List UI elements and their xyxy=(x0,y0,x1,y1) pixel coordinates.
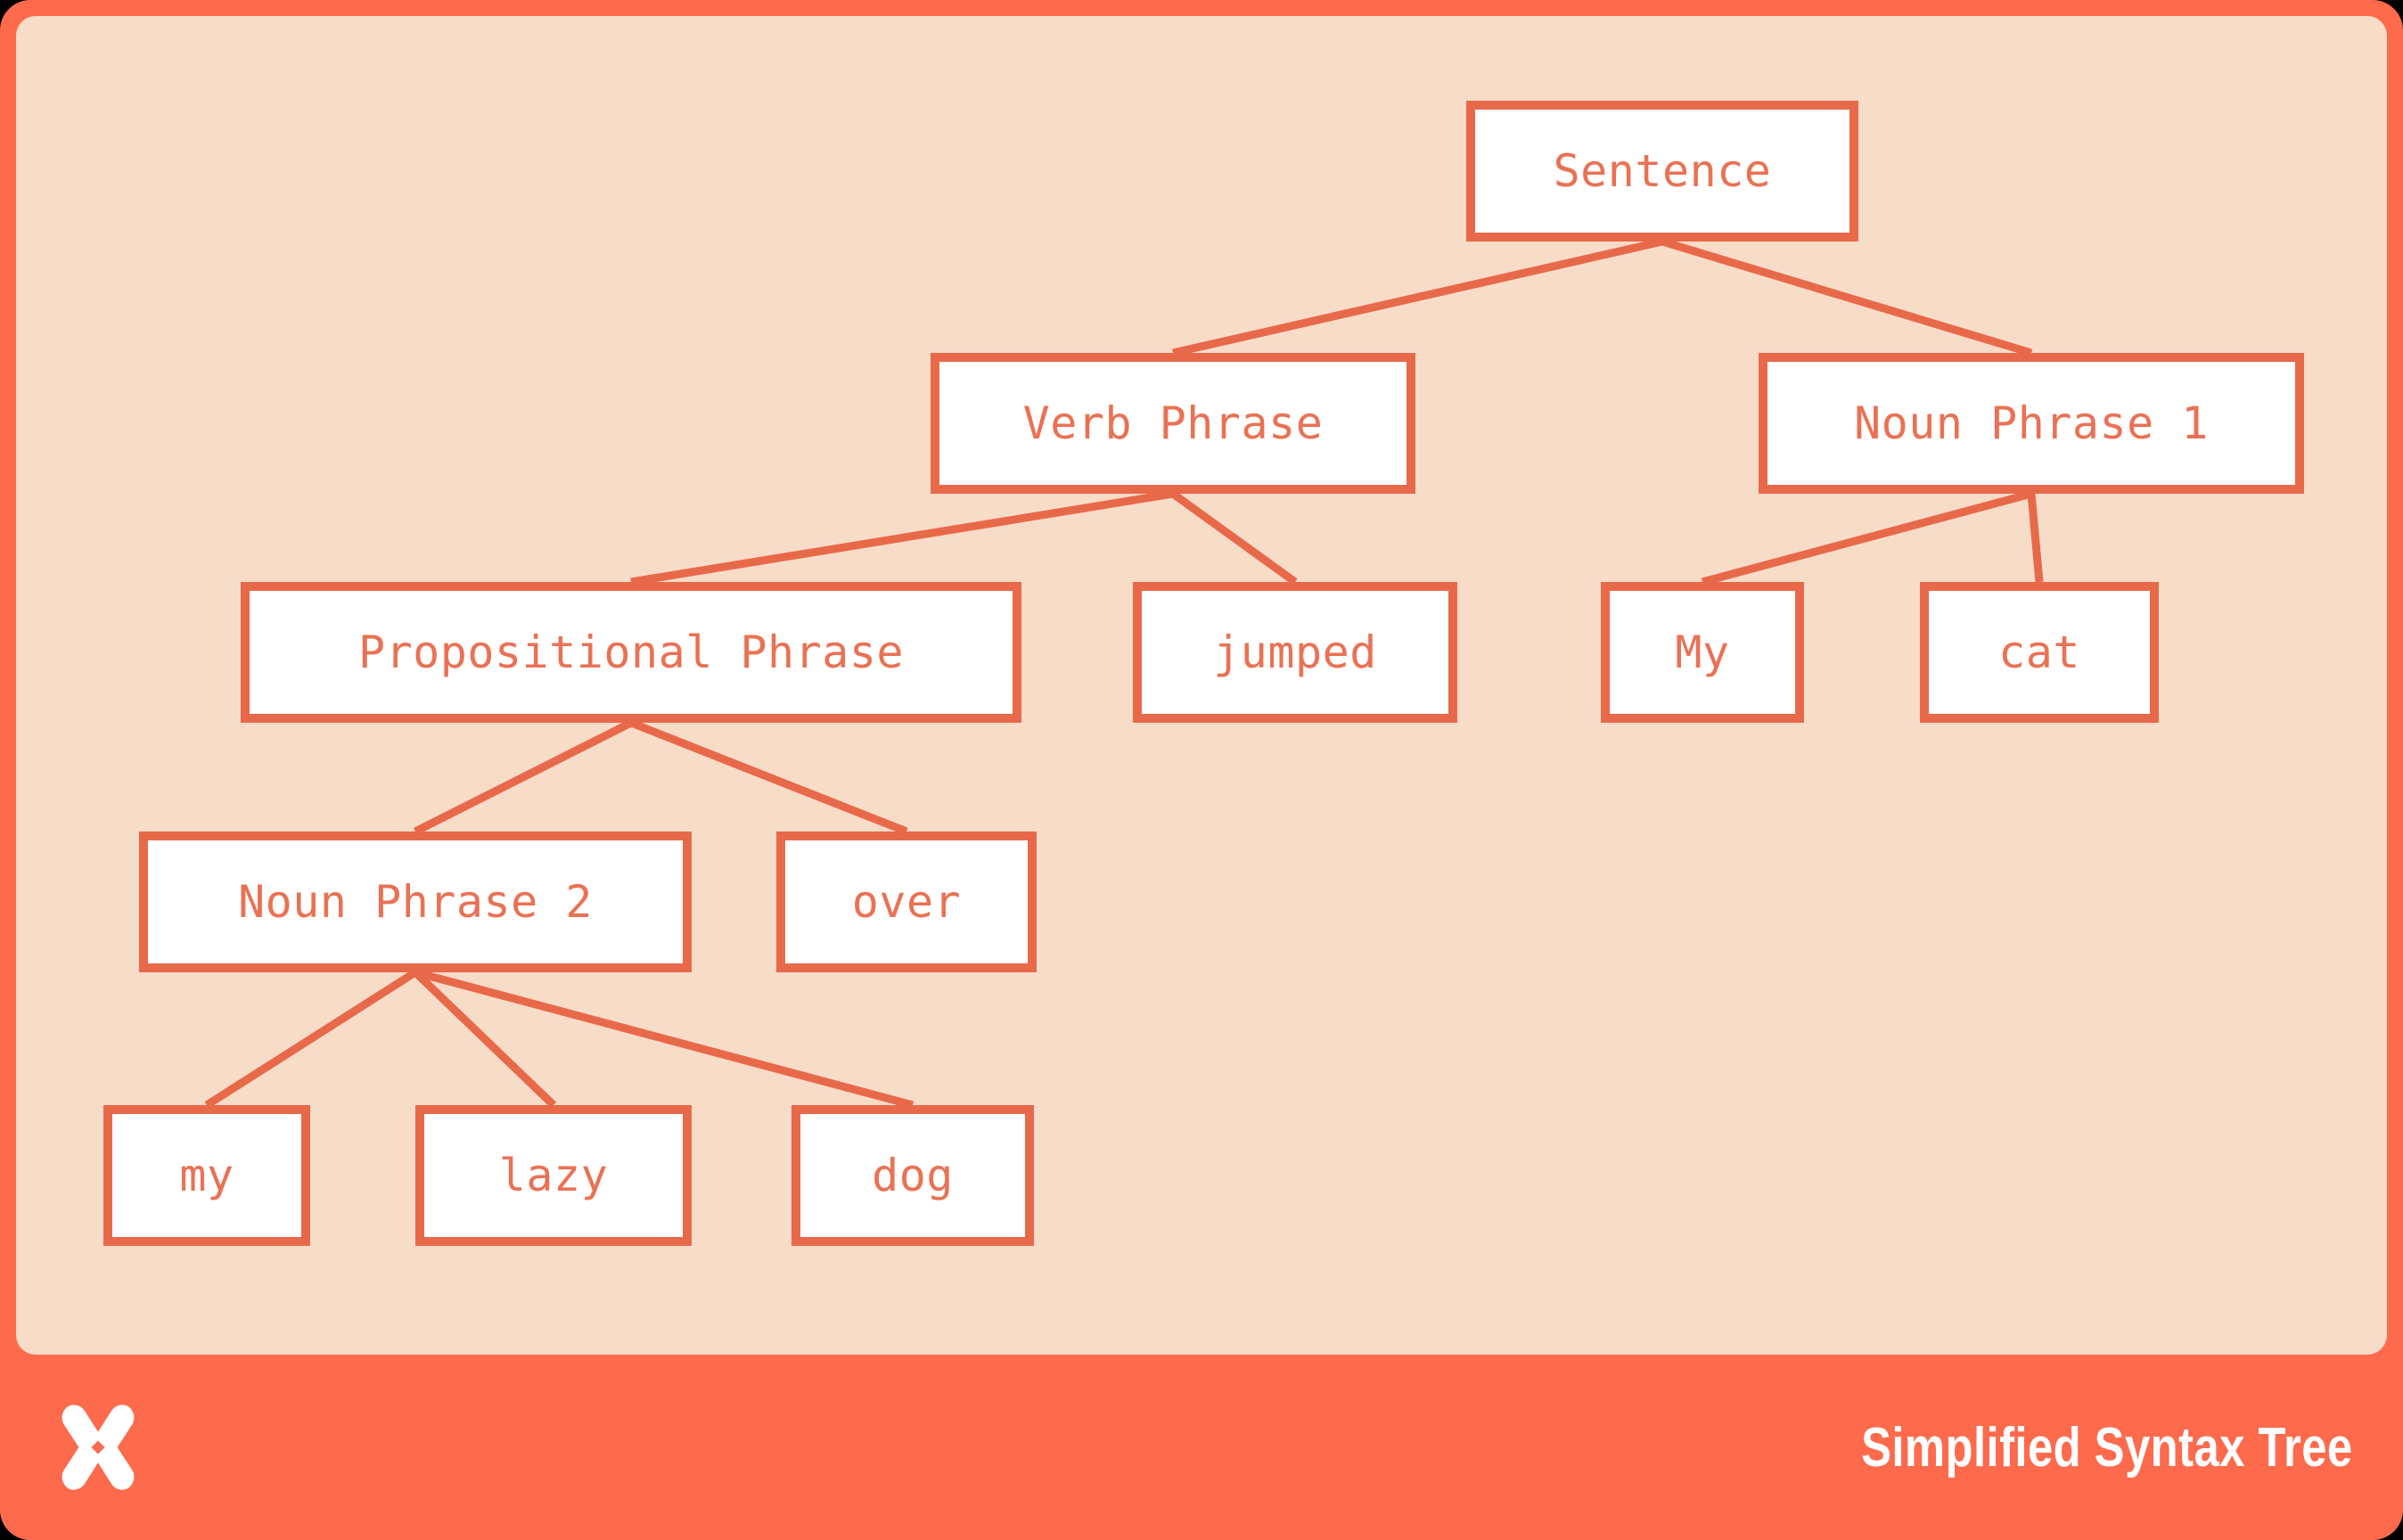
tree-node-box[interactable] xyxy=(245,586,1017,718)
syntax-tree-page: SentenceVerb PhraseNoun Phrase 1Proposit… xyxy=(0,0,2403,1540)
tree-node-box[interactable] xyxy=(1137,586,1453,718)
tree-node-box[interactable] xyxy=(935,357,1411,489)
tree-node-box[interactable] xyxy=(1763,357,2300,489)
tree-canvas: SentenceVerb PhraseNoun Phrase 1Proposit… xyxy=(16,16,2387,1355)
tree-edge xyxy=(631,494,1173,582)
tree-node-box[interactable] xyxy=(144,836,687,968)
tree-node-box[interactable] xyxy=(1924,586,2154,718)
tree-node-box[interactable] xyxy=(1605,586,1800,718)
tree-edge xyxy=(631,723,906,831)
card-frame: SentenceVerb PhraseNoun Phrase 1Proposit… xyxy=(0,0,2403,1540)
tree-node-box[interactable] xyxy=(108,1110,306,1241)
tree-node-box[interactable] xyxy=(420,1110,687,1241)
tree-graphic xyxy=(16,16,2387,1355)
tree-node-box[interactable] xyxy=(1471,105,1854,237)
tree-edge xyxy=(2031,494,2039,582)
x-star-logo-icon xyxy=(50,1399,146,1495)
tree-node-box[interactable] xyxy=(781,836,1032,968)
footer-title: Simplified Syntax Tree xyxy=(1861,1416,2353,1479)
tree-edge xyxy=(415,723,631,831)
tree-edge xyxy=(1662,242,2031,353)
footer-bar: Simplified Syntax Tree xyxy=(0,1355,2403,1540)
tree-edge xyxy=(1173,494,1295,582)
tree-node-box[interactable] xyxy=(796,1110,1029,1241)
node-box-layer xyxy=(108,105,2300,1241)
tree-edge xyxy=(207,972,415,1105)
tree-edge xyxy=(1173,242,1662,353)
tree-edge xyxy=(1702,494,2031,582)
